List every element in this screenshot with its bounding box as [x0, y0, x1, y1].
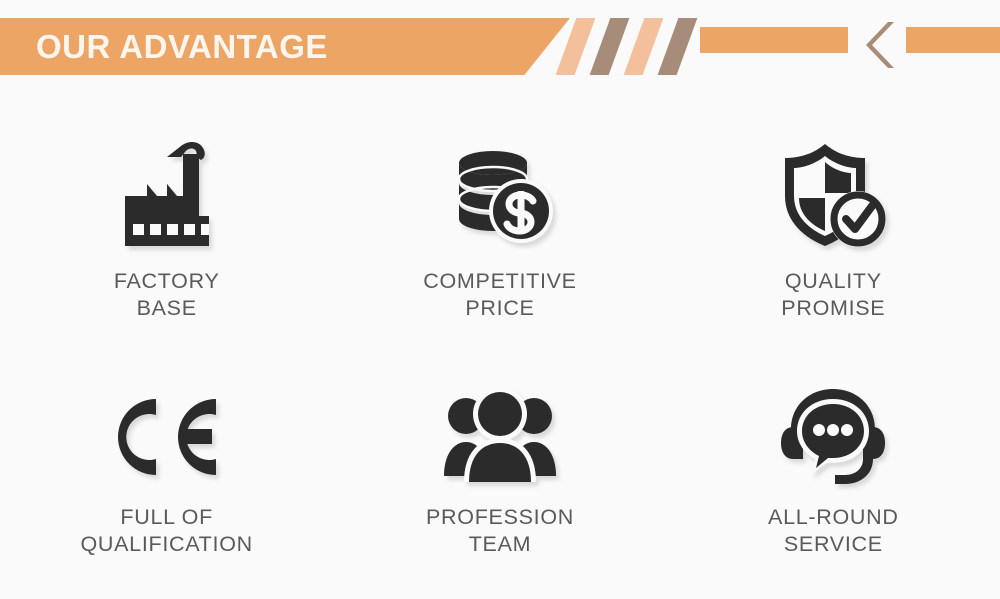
advantage-item-competitive-price[interactable]: COMPETITIVE PRICE — [333, 108, 666, 354]
advantage-item-full-of-qualification[interactable]: FULL OF QUALIFICATION — [0, 354, 333, 599]
advantage-page: OUR ADVANTAGE — [0, 0, 1000, 599]
advantage-item-profession-team[interactable]: PROFESSION TEAM — [333, 354, 666, 599]
advantage-label: COMPETITIVE PRICE — [423, 268, 576, 322]
header-bar-1 — [700, 27, 848, 53]
advantage-item-quality-promise[interactable]: QUALITY PROMISE — [667, 108, 1000, 354]
headset-chat-icon — [779, 382, 887, 492]
coins-dollar-icon — [445, 136, 555, 256]
advantage-label: FACTORY BASE — [114, 268, 220, 322]
people-group-icon — [442, 382, 558, 492]
page-header: OUR ADVANTAGE — [0, 0, 1000, 92]
advantage-label: QUALITY PROMISE — [781, 268, 885, 322]
page-title: OUR ADVANTAGE — [36, 26, 328, 68]
header-bar-2 — [906, 27, 1000, 53]
advantage-label: PROFESSION TEAM — [426, 504, 574, 558]
advantage-label: FULL OF QUALIFICATION — [80, 504, 252, 558]
advantage-item-factory-base[interactable]: FACTORY BASE — [0, 108, 333, 354]
advantages-grid: FACTORY BASE — [0, 108, 1000, 599]
factory-icon — [111, 136, 223, 256]
shield-check-icon — [777, 136, 889, 256]
ce-mark-icon — [112, 382, 222, 492]
advantage-item-all-round-service[interactable]: ALL-ROUND SERVICE — [667, 354, 1000, 599]
advantage-label: ALL-ROUND SERVICE — [768, 504, 899, 558]
chevron-left-icon — [858, 20, 894, 70]
